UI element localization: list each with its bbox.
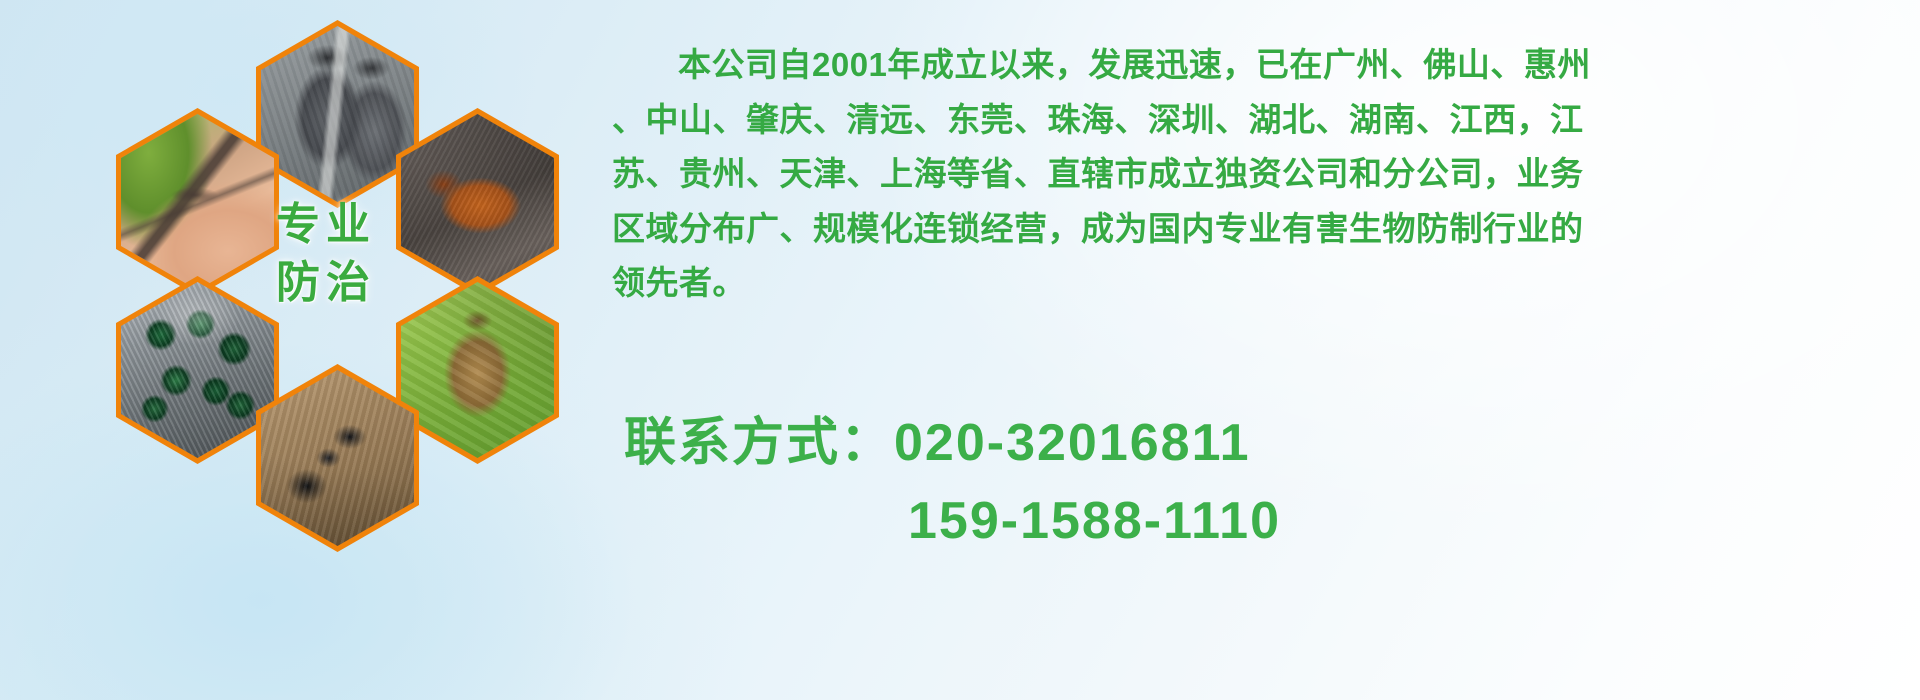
- slogan-overlay: 专业 防治: [256, 196, 396, 312]
- contact-phone-mobile[interactable]: 159-1588-1110: [624, 482, 1281, 560]
- promo-banner: 专业 防治 本公司自2001年成立以来，发展迅速，已在广州、佛山、惠州 、中山、…: [0, 0, 1920, 700]
- description-line-1: 本公司自2001年成立以来，发展迅速，已在广州、佛山、惠州: [612, 38, 1902, 93]
- rats-photo: [261, 26, 414, 202]
- contact-block: 联系方式：020-32016811 159-1588-1110: [624, 404, 1281, 560]
- slogan-line-1: 专业: [256, 196, 396, 254]
- description-line-3: 苏、贵州、天津、上海等省、直辖市成立独资公司和分公司，业务: [612, 147, 1902, 202]
- slogan-line-2: 防治: [256, 254, 396, 312]
- description-line-5: 领先者。: [612, 256, 1902, 311]
- description-line-2: 、中山、肇庆、清远、东莞、珠海、深圳、湖北、湖南、江西，江: [612, 93, 1902, 148]
- company-description: 本公司自2001年成立以来，发展迅速，已在广州、佛山、惠州 、中山、肇庆、清远、…: [612, 38, 1902, 311]
- flies-photo: [121, 282, 274, 458]
- contact-phone-landline[interactable]: 联系方式：020-32016811: [624, 404, 1281, 482]
- hex-cell-flies-photo: [116, 276, 279, 464]
- description-line-4: 区域分布广、规模化连锁经营，成为国内专业有害生物防制行业的: [612, 202, 1902, 257]
- ants-photo: [261, 370, 414, 546]
- hex-cell-mosquito-photo: [116, 108, 279, 296]
- hex-cell-ants-photo: [256, 364, 419, 552]
- hex-cell-stink-bug-photo: [396, 276, 559, 464]
- cockroach-photo: [401, 114, 554, 290]
- mosquito-photo: [121, 114, 274, 290]
- stink-bug-photo: [401, 282, 554, 458]
- hex-cell-cockroach-photo: [396, 108, 559, 296]
- hex-cell-rats-photo: [256, 20, 419, 208]
